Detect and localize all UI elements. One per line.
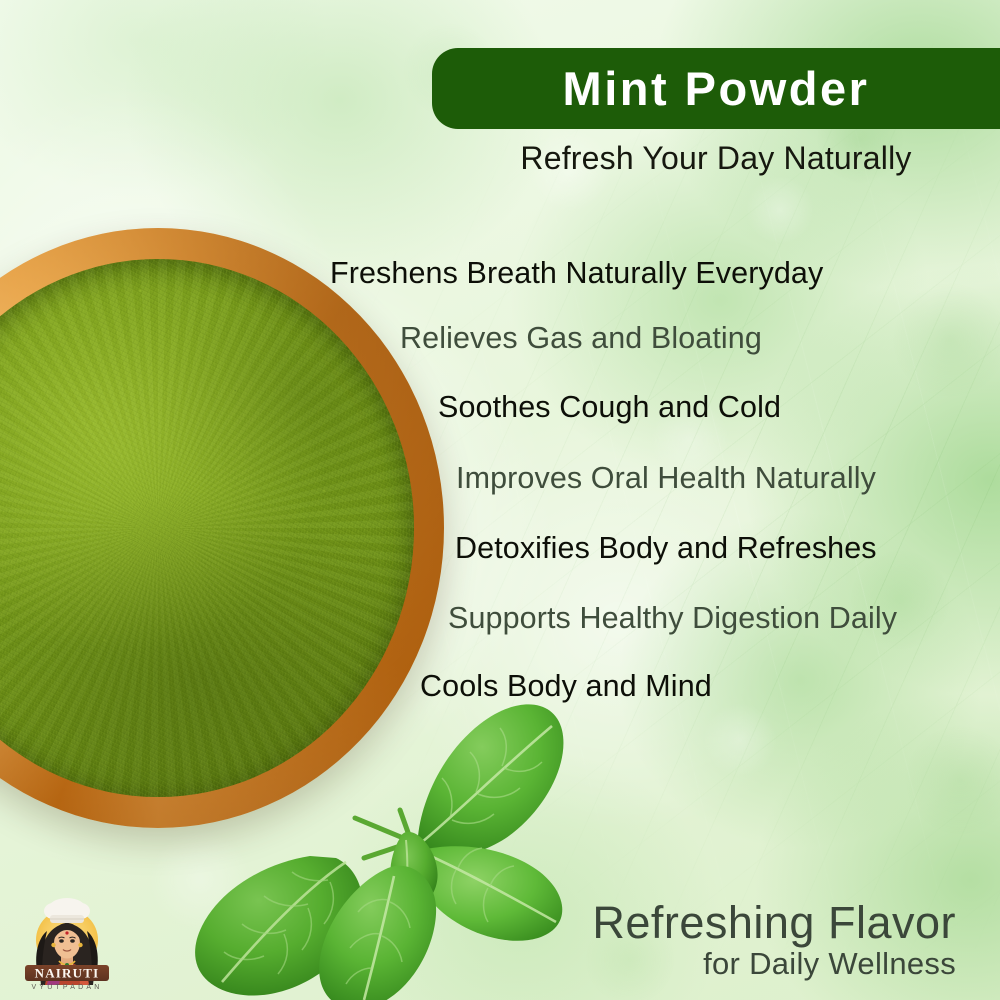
page-title: Mint Powder [563, 65, 870, 112]
tagline-secondary: for Daily Wellness [592, 946, 956, 982]
page-subtitle: Refresh Your Day Naturally [432, 140, 1000, 177]
brand-logo: NAIRUTI VYUTPADAN [17, 893, 117, 992]
logo-bindi [65, 931, 68, 934]
benefit-item: Detoxifies Body and Refreshes [455, 533, 877, 564]
mint-leaf-right [416, 846, 562, 940]
benefit-item: Cools Body and Mind [420, 671, 712, 702]
tagline-primary: Refreshing Flavor [592, 900, 956, 946]
benefit-item: Soothes Cough and Cold [438, 392, 781, 423]
benefit-item: Freshens Breath Naturally Everyday [330, 258, 823, 289]
logo-brand-tagline: VYUTPADAN [31, 984, 102, 991]
benefit-item: Improves Oral Health Naturally [456, 463, 876, 494]
title-banner: Mint Powder [432, 48, 1000, 129]
benefit-item: Supports Healthy Digestion Daily [448, 603, 897, 634]
mint-leaves-image [150, 690, 580, 1000]
tagline-block: Refreshing Flavor for Daily Wellness [592, 900, 956, 982]
logo-earring [51, 943, 55, 947]
logo-chef-hat [44, 898, 90, 923]
benefit-item: Relieves Gas and Bloating [400, 323, 762, 354]
poster-canvas: Mint Powder Refresh Your Day Naturally F… [0, 0, 1000, 1000]
mint-leaf-top [418, 704, 563, 856]
logo-brand-name: NAIRUTI [35, 966, 100, 981]
